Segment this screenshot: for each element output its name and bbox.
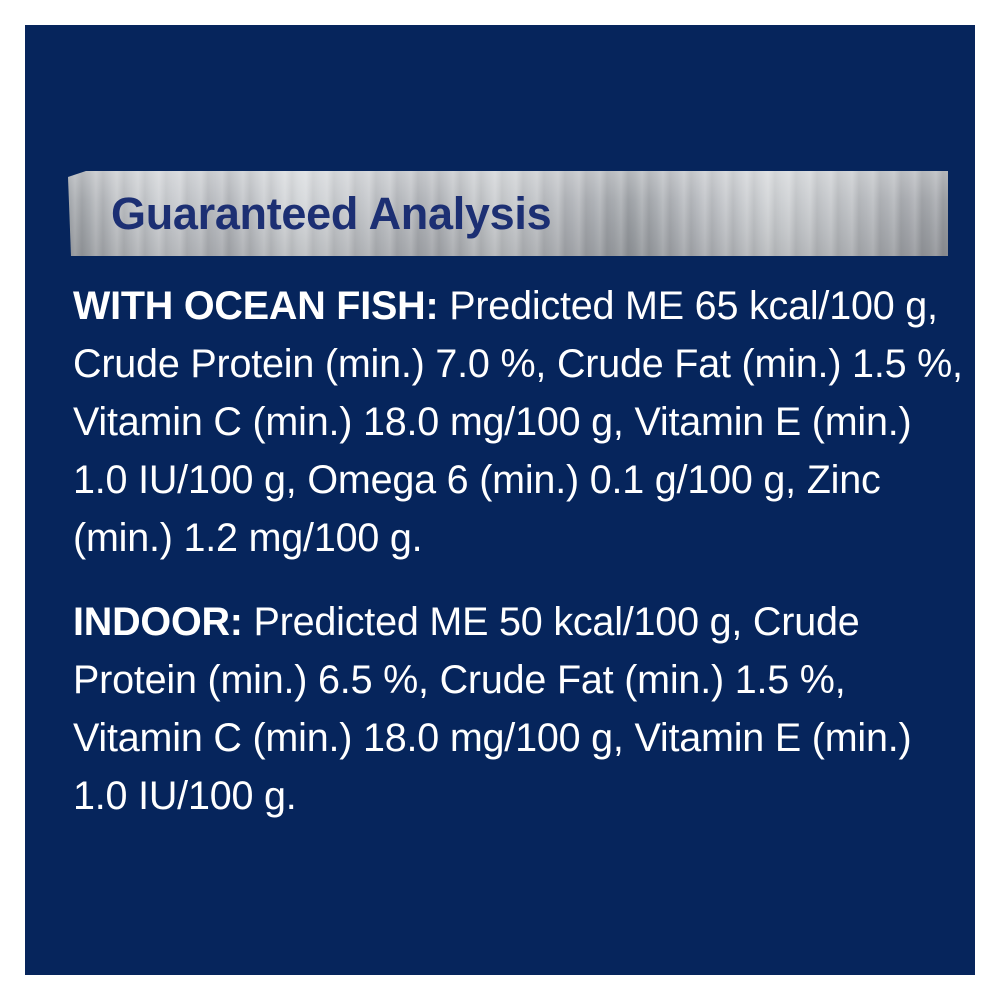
analysis-section-lead: WITH OCEAN FISH: (73, 284, 438, 328)
analysis-section-ocean-fish: WITH OCEAN FISH: Predicted ME 65 kcal/10… (73, 277, 968, 567)
analysis-text-block: WITH OCEAN FISH: Predicted ME 65 kcal/10… (73, 277, 968, 825)
guaranteed-analysis-panel: Guaranteed Analysis WITH OCEAN FISH: Pre… (25, 25, 975, 975)
analysis-section-indoor: INDOOR: Predicted ME 50 kcal/100 g, Crud… (73, 593, 968, 825)
analysis-section-lead: INDOOR: (73, 600, 243, 644)
page-title: Guaranteed Analysis (111, 171, 551, 256)
guaranteed-analysis-banner: Guaranteed Analysis (68, 171, 948, 256)
